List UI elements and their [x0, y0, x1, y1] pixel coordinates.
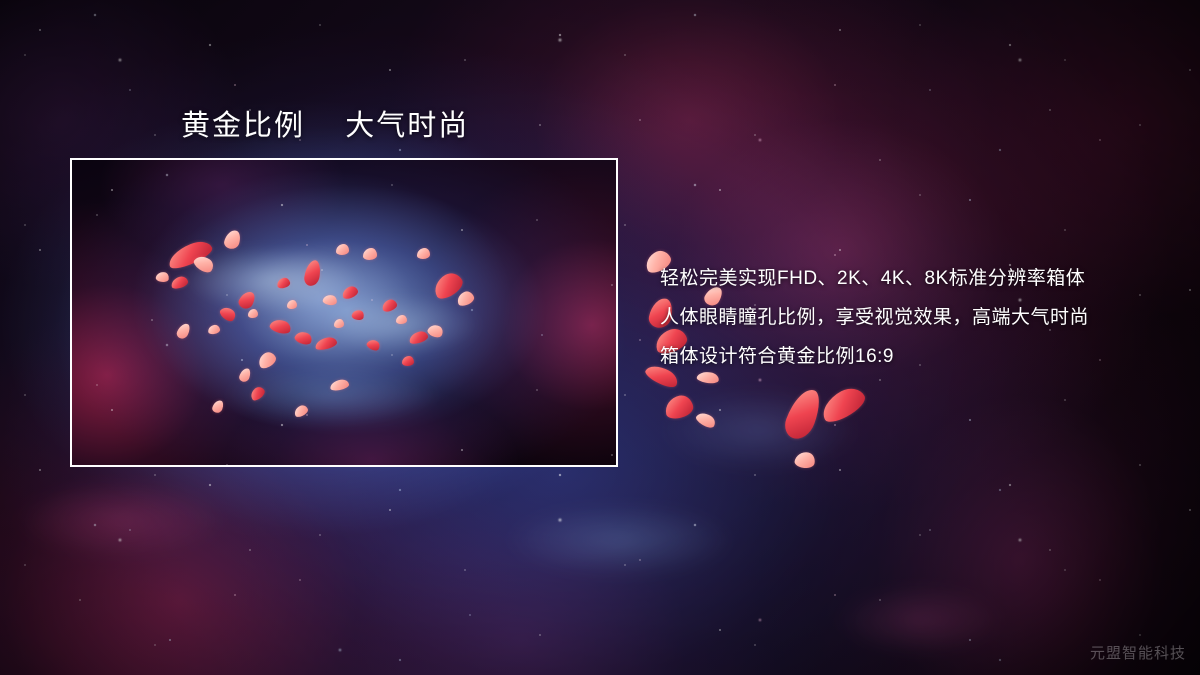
panel-petal — [417, 248, 430, 259]
company-watermark: 元盟智能科技 — [1090, 642, 1186, 663]
page-title: 黄金比例 大气时尚 — [181, 102, 469, 144]
description-line-3: 箱体设计符合黄金比例16:9 — [660, 337, 1089, 376]
panel-petal — [248, 309, 258, 318]
panel-petal — [396, 315, 407, 324]
galaxy-image-panel — [70, 158, 618, 467]
panel-petal — [336, 244, 349, 255]
presentation-slide: 黄金比例 大气时尚 轻松完美实现FHD、2K、4K、8K标准分辨率箱体 人体眼睛… — [0, 0, 1200, 675]
panel-petal — [363, 248, 377, 260]
description-line-2: 人体眼睛瞳孔比例，享受视觉效果，高端大气时尚 — [660, 298, 1089, 337]
description-text-block: 轻松完美实现FHD、2K、4K、8K标准分辨率箱体 人体眼睛瞳孔比例，享受视觉效… — [660, 259, 1089, 376]
panel-petal — [402, 356, 414, 366]
panel-starfield-2 — [72, 160, 616, 465]
panel-petal — [287, 300, 297, 309]
panel-petal — [334, 319, 344, 328]
description-line-1: 轻松完美实现FHD、2K、4K、8K标准分辨率箱体 — [660, 259, 1089, 298]
